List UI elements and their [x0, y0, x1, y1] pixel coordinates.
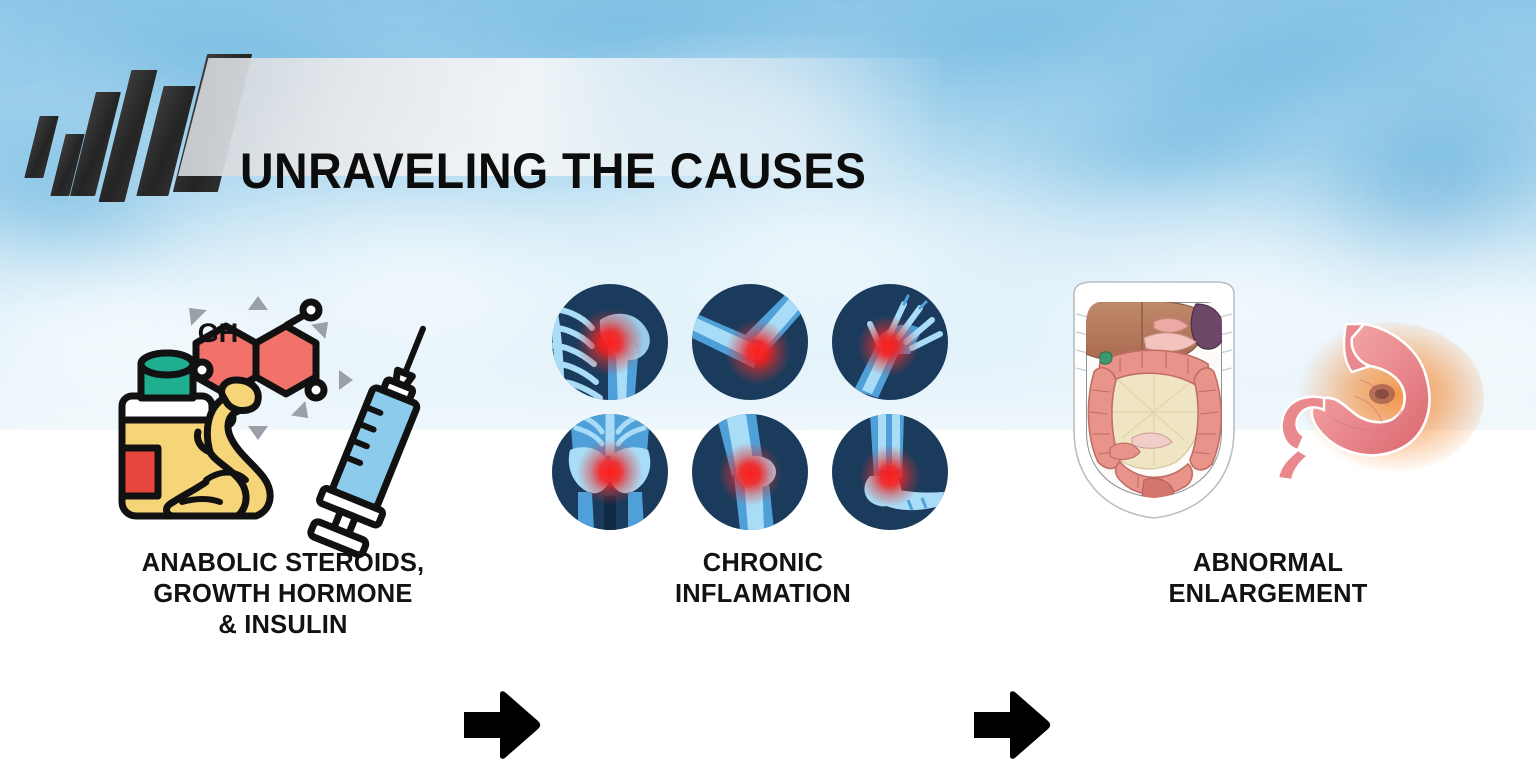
flow-node-enlargement[interactable]: ABNORMAL ENLARGEMENT [1058, 280, 1478, 610]
node-label-causes: ANABOLIC STEROIDS, GROWTH HORMONE & INSU… [78, 548, 488, 641]
flow-arrow-2 [972, 690, 1052, 760]
label-line-1: ANABOLIC STEROIDS, [78, 548, 488, 579]
page-title: UNRAVELING THE CAUSES [240, 142, 866, 200]
arrow-right-icon [464, 691, 540, 759]
joint-circle-elbow [684, 280, 822, 400]
label-line-1: CHRONIC [548, 548, 978, 579]
flow-arrow-1 [462, 690, 542, 760]
label-line-1: ABNORMAL [1058, 548, 1478, 579]
joint-circle-shoulder [548, 284, 668, 406]
joint-xray-circles [548, 280, 978, 540]
joint-circle-wrist-hand [832, 284, 948, 400]
label-line-2: ENLARGEMENT [1058, 579, 1478, 610]
logo-bar-1 [24, 116, 58, 178]
causes-flow: GH ANABOLIC STEROIDS, GROWTH HORMONE & I… [0, 280, 1536, 680]
abdominal-organs-illustration [1058, 280, 1478, 540]
syringe-icon [306, 317, 453, 558]
arrow-right-icon [974, 691, 1050, 759]
steroids-hormone-insulin-illustration: GH [78, 280, 488, 540]
label-line-2: GROWTH HORMONE [78, 579, 488, 610]
node-label-enlargement: ABNORMAL ENLARGEMENT [1058, 548, 1478, 610]
joint-circle-hip-pelvis [552, 410, 668, 530]
label-line-3: & INSULIN [78, 610, 488, 641]
flow-node-causes[interactable]: GH ANABOLIC STEROIDS, GROWTH HORMONE & I… [78, 280, 488, 641]
joint-circle-ankle-foot [832, 414, 948, 530]
stomach-diagram [1278, 322, 1484, 480]
label-line-2: INFLAMATION [548, 579, 978, 610]
infographic-canvas: UNRAVELING THE CAUSES [0, 0, 1536, 768]
abdomen-diagram [1074, 282, 1234, 518]
joint-circle-knee [692, 414, 808, 530]
node-label-inflammation: CHRONIC INFLAMATION [548, 548, 978, 610]
molecule-label: GH [198, 318, 239, 348]
header: UNRAVELING THE CAUSES [0, 46, 950, 196]
flow-node-inflammation[interactable]: CHRONIC INFLAMATION [548, 280, 978, 610]
